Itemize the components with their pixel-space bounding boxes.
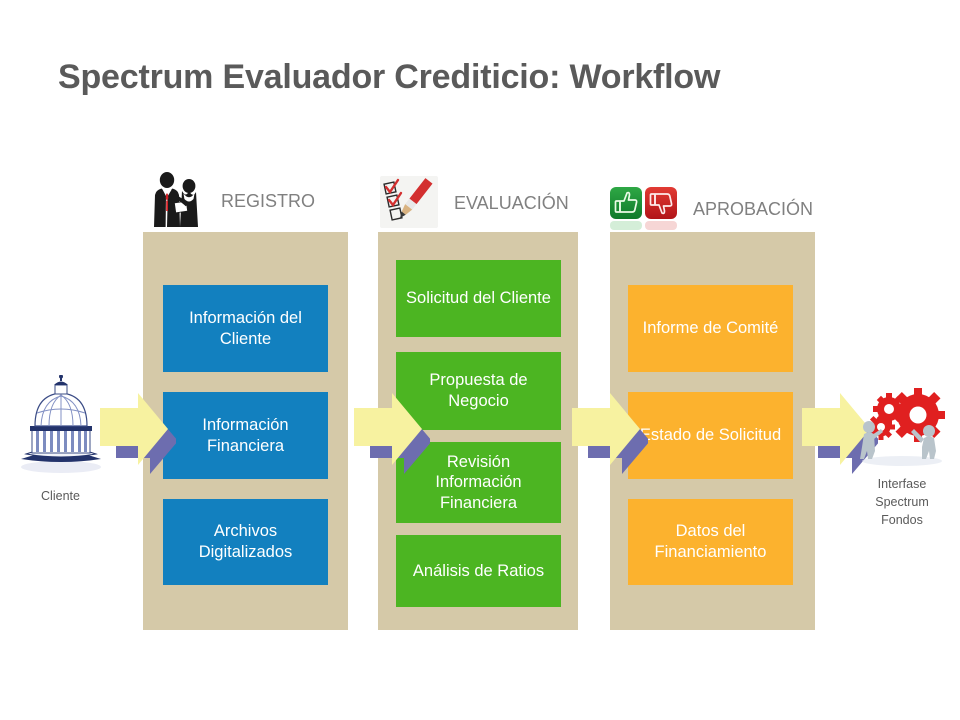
flow-arrow-icon-2: [352, 390, 430, 476]
diagram-canvas: Spectrum Evaluador Crediticio: Workflow: [0, 0, 960, 720]
phase-header-aprobacion: APROBACIÓN: [607, 178, 813, 240]
flow-arrow-icon-3: [570, 390, 648, 476]
process-box-info-financiera[interactable]: Información Financiera: [163, 392, 328, 479]
process-box-archivos-digitalizados[interactable]: Archivos Digitalizados: [163, 499, 328, 585]
endpoint-label-interfase: Interfase Spectrum Fondos: [848, 475, 956, 529]
process-box-info-cliente[interactable]: Información del Cliente: [163, 285, 328, 372]
process-box-datos-financiamiento[interactable]: Datos del Financiamiento: [628, 499, 793, 585]
endpoint-label-cliente: Cliente: [8, 487, 113, 505]
process-box-analisis-ratios[interactable]: Análisis de Ratios: [396, 535, 561, 607]
capitol-building-icon: [17, 375, 105, 475]
thumbs-up-down-icon: [607, 179, 683, 239]
business-people-icon: [145, 171, 211, 231]
gears-workers-icon: [856, 385, 948, 467]
process-box-solicitud-cliente[interactable]: Solicitud del Cliente: [396, 260, 561, 337]
checklist-pencil-icon: [378, 173, 444, 233]
process-box-estado-solicitud[interactable]: Estado de Solicitud: [628, 392, 793, 479]
page-title: Spectrum Evaluador Crediticio: Workflow: [58, 58, 720, 97]
process-box-informe-comite[interactable]: Informe de Comité: [628, 285, 793, 372]
phase-header-registro: REGISTRO: [145, 170, 315, 232]
endpoint-interfase: Interfase Spectrum Fondos: [848, 385, 956, 529]
phase-label-evaluacion: EVALUACIÓN: [454, 193, 569, 214]
phase-header-evaluacion: EVALUACIÓN: [378, 172, 569, 234]
phase-label-registro: REGISTRO: [221, 191, 315, 212]
endpoint-cliente: Cliente: [8, 375, 113, 505]
phase-label-aprobacion: APROBACIÓN: [693, 199, 813, 220]
